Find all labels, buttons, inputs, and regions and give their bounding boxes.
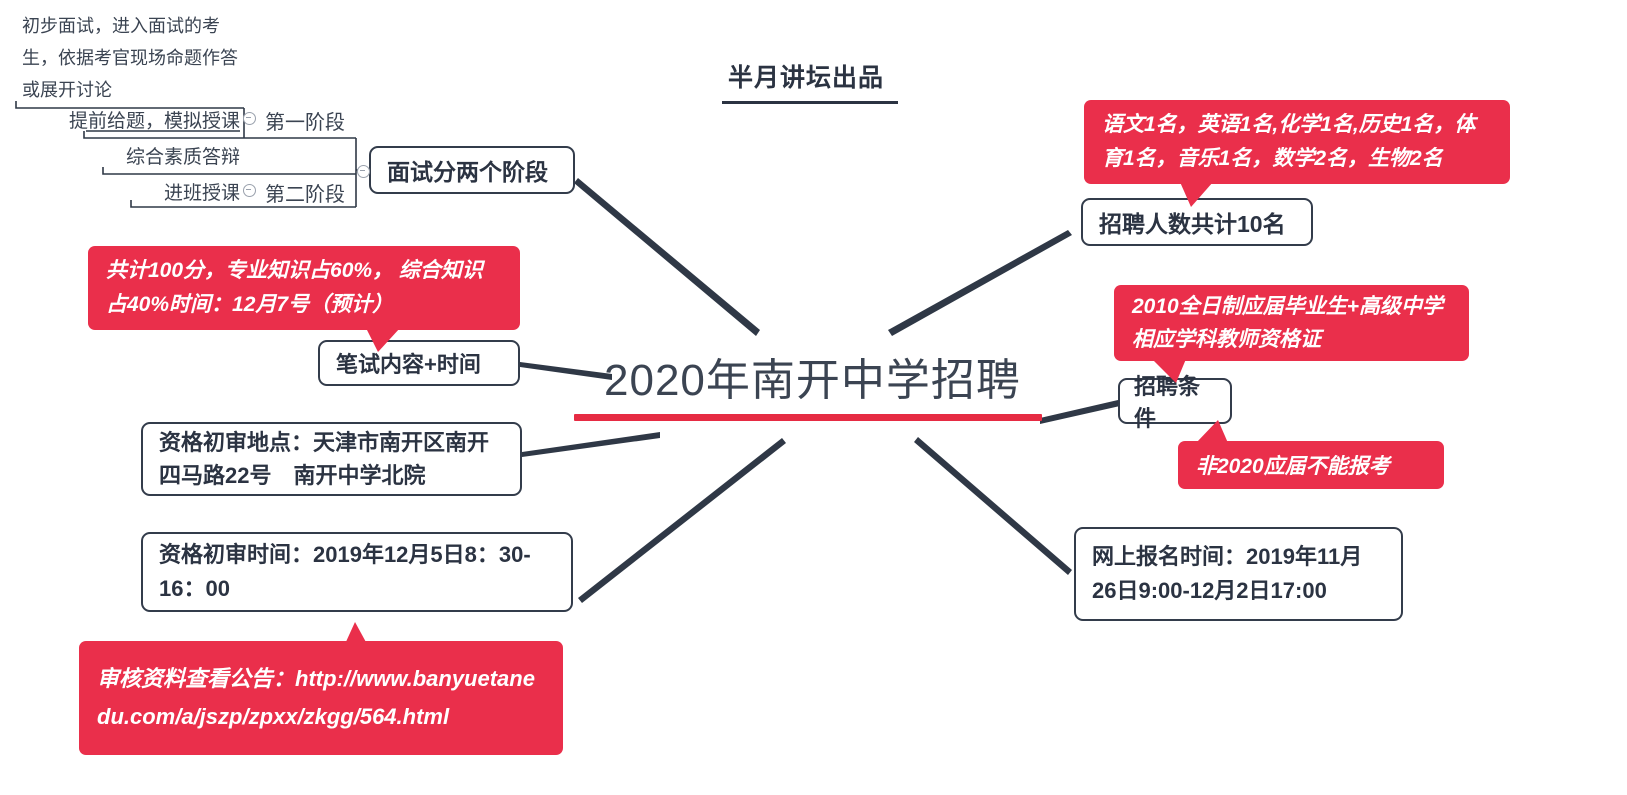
node-label: 资格初审地点：天津市南开区南开四马路22号 南开中学北院 bbox=[159, 426, 504, 492]
callout-restriction[interactable]: 非2020应届不能报考 bbox=[1178, 441, 1444, 489]
mindmap-canvas: 半月讲坛出品 2020年南开中学招聘 初步面试，进入面试的考生，依据考官现场命题… bbox=[0, 0, 1627, 795]
brand-header: 半月讲坛出品 bbox=[728, 58, 898, 104]
callout-subject-quota[interactable]: 语文1名，英语1名,化学1名,历史1名，体育1名，音乐1名，数学2名，生物2名 bbox=[1084, 100, 1510, 184]
node-label: 网上报名时间：2019年11月26日9:00-12月2日17:00 bbox=[1092, 540, 1385, 608]
stage-one-label[interactable]: 第一阶段 bbox=[265, 106, 345, 135]
callout-text: 审核资料查看公告：http://www.banyuetanedu.com/a/j… bbox=[97, 660, 545, 736]
callout-text: 共计100分，专业知识占60%， 综合知识占40%时间：12月7号（预计） bbox=[106, 254, 502, 322]
stage-two-label[interactable]: 第二阶段 bbox=[265, 178, 345, 207]
node-review-time[interactable]: 资格初审时间：2019年12月5日8：30-16：00 bbox=[141, 532, 573, 612]
callout-tail-subject-quota bbox=[1180, 182, 1213, 207]
collapse-icon-stage-one[interactable] bbox=[243, 112, 256, 125]
node-interview-stages[interactable]: 面试分两个阶段 bbox=[369, 146, 575, 194]
node-requirements[interactable]: 招聘条件 bbox=[1118, 378, 1232, 424]
interview-note: 初步面试，进入面试的考生，依据考官现场命题作答或展开讨论 bbox=[22, 10, 238, 106]
leaf-mock-teaching[interactable]: 提前给题，模拟授课 bbox=[30, 106, 240, 133]
node-label: 笔试内容+时间 bbox=[336, 347, 502, 379]
callout-tail-restriction bbox=[1196, 420, 1228, 443]
node-label: 招聘人数共计10名 bbox=[1099, 205, 1295, 239]
callout-tail-announcement-url bbox=[345, 622, 367, 644]
node-label: 资格初审时间：2019年12月5日8：30-16：00 bbox=[159, 538, 555, 606]
node-written-exam[interactable]: 笔试内容+时间 bbox=[318, 340, 520, 386]
collapse-icon-stage-two[interactable] bbox=[243, 184, 256, 197]
node-review-place[interactable]: 资格初审地点：天津市南开区南开四马路22号 南开中学北院 bbox=[141, 422, 522, 496]
callout-announcement-url[interactable]: 审核资料查看公告：http://www.banyuetanedu.com/a/j… bbox=[79, 641, 563, 755]
callout-tail-exam-detail bbox=[366, 328, 400, 352]
callout-exam-detail[interactable]: 共计100分，专业知识占60%， 综合知识占40%时间：12月7号（预计） bbox=[88, 246, 520, 330]
root-title: 2020年南开中学招聘 bbox=[604, 344, 1042, 408]
root-underline bbox=[574, 414, 1042, 421]
callout-text: 2010全日制应届毕业生+高级中学相应学科教师资格证 bbox=[1132, 290, 1451, 356]
callout-eligibility[interactable]: 2010全日制应届毕业生+高级中学相应学科教师资格证 bbox=[1114, 285, 1469, 361]
brand-title: 半月讲坛出品 bbox=[728, 58, 898, 94]
node-online-signup[interactable]: 网上报名时间：2019年11月26日9:00-12月2日17:00 bbox=[1074, 527, 1403, 621]
leaf-class-teaching[interactable]: 进班授课 bbox=[130, 178, 240, 205]
callout-text: 语文1名，英语1名,化学1名,历史1名，体育1名，音乐1名，数学2名，生物2名 bbox=[1102, 108, 1492, 176]
callout-tail-eligibility bbox=[1152, 359, 1186, 383]
node-label: 面试分两个阶段 bbox=[387, 153, 557, 187]
leaf-comprehensive-defense[interactable]: 综合素质答辩 bbox=[80, 142, 240, 169]
root-node[interactable]: 2020年南开中学招聘 bbox=[604, 344, 1042, 421]
callout-text: 非2020应届不能报考 bbox=[1196, 450, 1426, 480]
brand-underline bbox=[722, 101, 898, 104]
collapse-icon-interview-stages[interactable] bbox=[357, 165, 370, 178]
